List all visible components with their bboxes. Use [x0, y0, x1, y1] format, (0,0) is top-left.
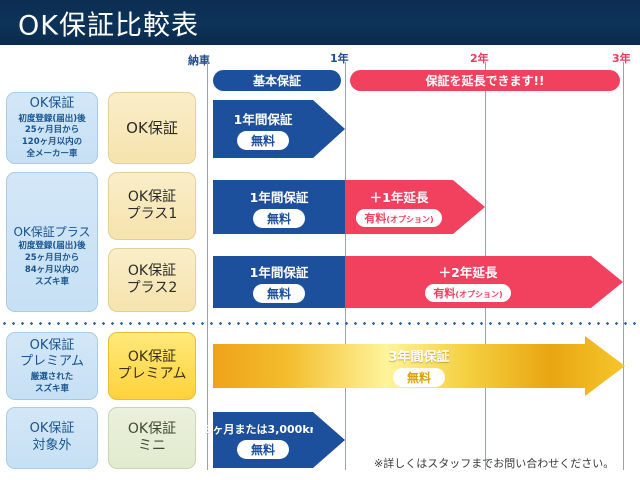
plan-card-line-1: OK保証: [128, 421, 176, 438]
info-card-line-1: 厳選された: [31, 372, 74, 383]
info-card-title-2: プレミアム: [20, 354, 84, 371]
info-card-title: OK保証: [30, 421, 75, 438]
bar-chip-paid-text: 有料: [364, 212, 386, 225]
bar-label: ＋1年延長: [370, 187, 429, 206]
bar-label: 3ヶ月または3,000km: [205, 421, 321, 437]
bar-chip-paid-text: 有料: [433, 287, 455, 300]
gridline-year3: [623, 62, 624, 470]
info-card-line-4: 全メーカー車: [26, 149, 77, 160]
plan-card-line-1: OK保証: [128, 189, 176, 206]
info-card-title: OK保証プラス: [13, 225, 90, 240]
info-card-ok-hosho: OK保証 初度登録(届出)後 25ヶ月目から 120ヶ月以内の 全メーカー車: [6, 92, 98, 164]
info-card-line-2: 25ヶ月目から: [25, 125, 79, 136]
bar-label: ＋2年延長: [439, 262, 498, 281]
plan-card-premium: OK保証 プレミアム: [108, 332, 196, 400]
bar-chip-free: 無料: [237, 131, 289, 150]
bar-segment-base: 1年間保証 無料: [213, 100, 313, 158]
axis-tick-label-year3: 3年: [612, 50, 631, 66]
bar-chip-free: 無料: [253, 209, 305, 228]
info-card-title: OK保証: [30, 338, 75, 355]
arrow-tip-icon: [313, 412, 345, 468]
section-divider: [0, 322, 640, 325]
plan-card-line-2: プラス2: [127, 280, 178, 297]
info-card-line-3: 120ヶ月以内の: [22, 137, 82, 148]
warranty-comparison-chart: OK保証比較表 納車 1年 2年 3年 基本保証 保証を延長できます!! OK保…: [0, 0, 640, 480]
bar-segment-extension: ＋1年延長 有料(オプション): [345, 180, 453, 234]
bar-segment-base: 1年間保証 無料: [213, 256, 345, 308]
bar-row-plus2: 1年間保証 無料 ＋2年延長 有料(オプション): [213, 256, 623, 308]
plan-card-mini: OK保証 ミニ: [108, 407, 196, 469]
bar-chip-paid-option: (オプション): [455, 290, 502, 299]
bar-chip-free: 無料: [253, 284, 305, 303]
banner-extension-available: 保証を延長できます!!: [350, 70, 620, 91]
plan-card-line-2: プレミアム: [117, 366, 186, 383]
plan-card-line-2: ミニ: [138, 438, 166, 455]
bar-label: 1年間保証: [250, 187, 309, 206]
info-card-title-2: 対象外: [32, 438, 71, 455]
info-card-line-2: 25ヶ月目から: [25, 253, 79, 264]
bar-label: 1年間保証: [250, 262, 309, 281]
bar-chip-paid-option: (オプション): [386, 215, 433, 224]
gridline-delivery: [207, 62, 208, 470]
bar-row-ok-hosho: 1年間保証 無料: [213, 100, 345, 158]
bar-segment-base: 1年間保証 無料: [213, 180, 345, 234]
bar-chip-paid: 有料(オプション): [425, 284, 510, 302]
bar-segment-extension: ＋2年延長 有料(オプション): [345, 256, 591, 308]
gold-arrow-icon: [213, 336, 625, 396]
plan-card-line-1: OK保証: [126, 119, 178, 137]
bar-row-premium: 3年間保証 無料: [213, 336, 625, 396]
info-card-ok-hosho-excluded: OK保証 対象外: [6, 407, 98, 469]
bar-chip-paid: 有料(オプション): [356, 209, 441, 227]
info-card-line-3: 84ヶ月以内の: [25, 265, 79, 276]
info-card-line-2: スズキ車: [35, 384, 69, 395]
bar-chip-free: 無料: [237, 440, 289, 459]
plan-card-line-2: プラス1: [127, 206, 178, 223]
bar-label: 1年間保証: [234, 109, 293, 128]
bar-row-mini: 3ヶ月または3,000km 無料: [213, 412, 345, 468]
arrow-tip-icon: [313, 100, 345, 158]
plan-card-plus2: OK保証 プラス2: [108, 248, 196, 312]
info-card-ok-hosho-plus: OK保証プラス 初度登録(届出)後 25ヶ月目から 84ヶ月以内の スズキ車: [6, 172, 98, 312]
arrow-tip-icon: [591, 256, 623, 308]
info-card-line-1: 初度登録(届出)後: [18, 114, 85, 125]
info-card-ok-hosho-premium: OK保証 プレミアム 厳選された スズキ車: [6, 332, 98, 400]
plan-card-ok-hosho: OK保証: [108, 92, 196, 164]
footnote-text: ※詳しくはスタッフまでお問い合わせください。: [374, 455, 614, 471]
info-card-line-1: 初度登録(届出)後: [18, 241, 85, 252]
title-bar: OK保証比較表: [0, 0, 640, 45]
plan-card-plus1: OK保証 プラス1: [108, 172, 196, 240]
page-title: OK保証比較表: [18, 3, 199, 42]
plan-card-line-1: OK保証: [128, 349, 176, 366]
info-card-line-4: スズキ車: [35, 277, 69, 288]
info-card-title: OK保証: [30, 96, 75, 113]
bar-row-plus1: 1年間保証 無料 ＋1年延長 有料(オプション): [213, 180, 485, 234]
banner-basic-warranty: 基本保証: [213, 70, 341, 91]
plan-card-line-1: OK保証: [128, 263, 176, 280]
arrow-tip-icon: [453, 180, 485, 234]
bar-segment-base: 3ヶ月または3,000km 無料: [213, 412, 313, 468]
